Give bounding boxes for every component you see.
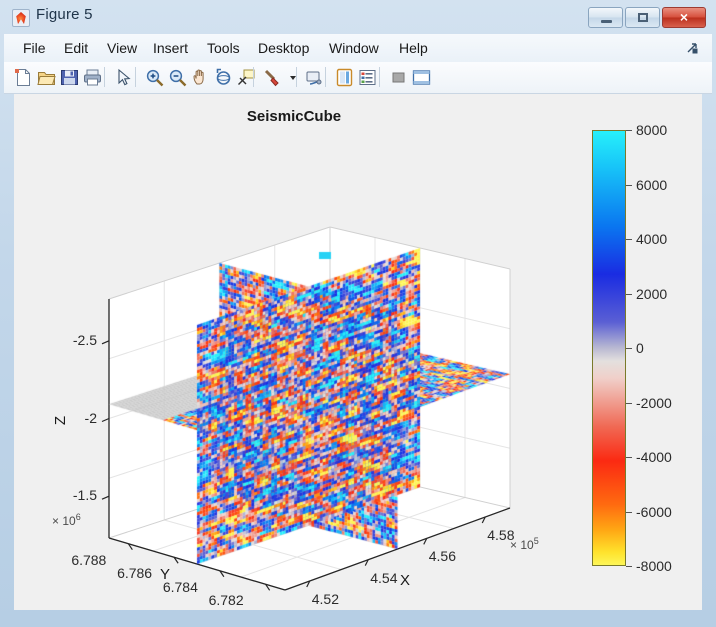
minimize-icon [601,20,612,23]
colorbar-tick [626,239,632,240]
colorbar-tick-label: -4000 [636,449,672,465]
figure-canvas[interactable]: SeismicCube -1.5 -2 -2.5 Z 6.788 6.786 6… [14,94,702,610]
link-plot-icon[interactable] [304,68,323,87]
toolbar-separator [296,67,297,87]
brush-dropdown-icon[interactable] [285,68,304,87]
toolbar-separator [135,67,136,87]
figure-window: Figure 5 × File Edit View Insert Tools D… [0,0,716,627]
pointer-icon[interactable] [114,68,133,87]
rotate-3d-icon[interactable] [214,68,233,87]
y-tick-label: 6.786 [117,565,152,581]
menu-edit[interactable]: Edit [59,39,93,57]
menu-tools[interactable]: Tools [202,39,245,57]
undock-arrow-icon[interactable] [687,43,698,54]
x-tick-label: 4.52 [312,591,339,607]
toolbar-separator [104,67,105,87]
matlab-membrane-icon [12,9,30,27]
menu-insert[interactable]: Insert [148,39,193,57]
menu-help[interactable]: Help [394,39,433,57]
menu-file[interactable]: File [18,39,51,57]
menu-window[interactable]: Window [324,39,384,57]
menu-bar: File Edit View Insert Tools Desktop Wind… [4,34,712,63]
y-tick-label: 6.788 [71,552,106,568]
x-tick-label: 4.56 [429,548,456,564]
x-axis-exponent: × 105 [510,536,539,552]
maximize-button[interactable] [625,7,660,28]
y-axis-label: Y [160,566,170,583]
menu-desktop[interactable]: Desktop [253,39,314,57]
new-figure-icon[interactable] [14,68,33,87]
legend-icon[interactable] [358,68,377,87]
colorbar-tick-label: 6000 [636,177,667,193]
colorbar-tick-label: 4000 [636,231,667,247]
colorbar-tick-label: -6000 [636,504,672,520]
close-button[interactable]: × [662,7,706,28]
window-title: Figure 5 [36,6,93,23]
colorbar-tick [626,185,632,186]
z-axis-label: Z [52,416,69,425]
colorbar-tick [626,348,632,349]
colorbar-tick-label: 2000 [636,286,667,302]
colorbar-tick-label: -2000 [636,395,672,411]
colorbar-tick [626,566,632,567]
colorbar-gradient [592,130,626,566]
colorbar-tick [626,512,632,513]
colorbar-tick-label: -8000 [636,558,672,574]
z-tick-label: -2 [85,410,97,426]
colorbar-tick [626,130,632,131]
menu-view[interactable]: View [102,39,142,57]
colorbar-tick-label: 8000 [636,122,667,138]
z-tick-label: -2.5 [73,332,97,348]
y-tick-label: 6.782 [209,592,244,608]
colorbar-tick [626,294,632,295]
maximize-icon [638,13,648,22]
brush-icon[interactable] [263,68,282,87]
zoom-in-icon[interactable] [145,68,164,87]
x-axis-label: X [400,572,410,589]
toolbar-separator [379,67,380,87]
colorbar-tick [626,403,632,404]
colorbar[interactable]: 80006000400020000-2000-4000-6000-8000 [578,94,702,610]
z-tick-label: -1.5 [73,487,97,503]
pan-hand-icon[interactable] [191,68,210,87]
y-axis-exponent: × 106 [52,512,81,528]
save-figure-icon[interactable] [60,68,79,87]
title-bar: Figure 5 × [0,0,716,34]
close-icon: × [663,8,705,27]
print-figure-icon[interactable] [83,68,102,87]
open-file-icon[interactable] [37,68,56,87]
colorbar-tick [626,457,632,458]
x-tick-label: 4.54 [370,570,397,586]
toolbar-separator [253,67,254,87]
toolbar-separator [325,67,326,87]
zoom-out-icon[interactable] [168,68,187,87]
hide-plot-tools-icon[interactable] [389,68,408,87]
show-plot-tools-icon[interactable] [412,68,431,87]
figure-toolbar [4,62,712,94]
colorbar-icon[interactable] [335,68,354,87]
colorbar-tick-label: 0 [636,340,644,356]
minimize-button[interactable] [588,7,623,28]
